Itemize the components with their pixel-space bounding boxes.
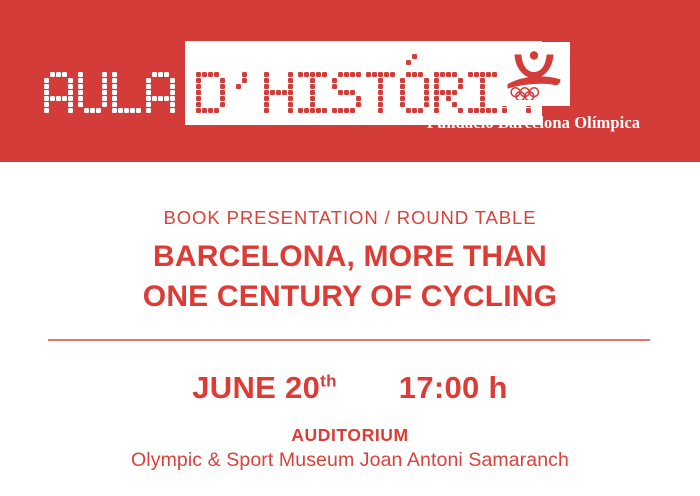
dotmatrix-dot (152, 90, 157, 95)
dotmatrix-glyph (78, 72, 107, 113)
dotmatrix-dot (78, 90, 83, 95)
dotmatrix-dot (282, 108, 287, 113)
dotmatrix-dot (356, 84, 361, 89)
dotmatrix-dot (208, 90, 213, 95)
dotmatrix-dot (254, 102, 259, 107)
dotmatrix-dot (270, 96, 275, 101)
dotmatrix-dot (310, 72, 315, 77)
dotmatrix-dot (316, 102, 321, 107)
dotmatrix-dot (44, 84, 49, 89)
dotmatrix-dot (44, 90, 49, 95)
dotmatrix-dot (214, 78, 219, 83)
dotmatrix-dot (146, 84, 151, 89)
dotmatrix-dot (270, 90, 275, 95)
dotmatrix-dot (304, 78, 309, 83)
dotmatrix-dot (90, 84, 95, 89)
foundation-name: Fundació Barcelona Olímpica (402, 113, 665, 133)
dotmatrix-dot (338, 102, 343, 107)
dotmatrix-dot (304, 72, 309, 77)
dotmatrix-dot (378, 108, 383, 113)
dotmatrix-dot (304, 108, 309, 113)
dotmatrix-dot (372, 108, 377, 113)
dotmatrix-dot (366, 90, 371, 95)
dotmatrix-dot (264, 102, 269, 107)
dotmatrix-dot (344, 78, 349, 83)
dotmatrix-dot (68, 78, 73, 83)
dotmatrix-dot (136, 96, 141, 101)
dotmatrix-dot (136, 90, 141, 95)
dotmatrix-dot (136, 108, 141, 113)
dotmatrix-dot (50, 78, 55, 83)
dotmatrix-dot (220, 78, 225, 83)
dotmatrix-dot (248, 72, 253, 77)
dotmatrix-dot (366, 84, 371, 89)
dotmatrix-dot (208, 78, 213, 83)
dotmatrix-dot (390, 78, 395, 83)
dotmatrix-dot (254, 72, 259, 77)
dotmatrix-dot (310, 84, 315, 89)
dotmatrix-dot (130, 72, 135, 77)
dotmatrix-dot (44, 96, 49, 101)
dotmatrix-dot (146, 96, 151, 101)
dotmatrix-dot (356, 108, 361, 113)
dotmatrix-dot (170, 78, 175, 83)
dotmatrix-dot (50, 96, 55, 101)
dotmatrix-glyph (146, 72, 175, 113)
dotmatrix-dot (164, 102, 169, 107)
dotmatrix-dot (276, 72, 281, 77)
event-title-line-2: ONE CENTURY OF CYCLING (0, 277, 700, 317)
dotmatrix-dot (350, 90, 355, 95)
dotmatrix-dot (146, 102, 151, 107)
dotmatrix-dot (208, 72, 213, 77)
dotmatrix-dot (288, 90, 293, 95)
dotmatrix-dot (390, 108, 395, 113)
dotmatrix-dot (102, 72, 107, 77)
dotmatrix-dot (164, 90, 169, 95)
dotmatrix-dot (124, 78, 129, 83)
dotmatrix-dot (322, 96, 327, 101)
dotmatrix-dot (304, 84, 309, 89)
dotmatrix-dot (68, 72, 73, 77)
dotmatrix-dot (282, 84, 287, 89)
dotmatrix-dot (112, 108, 117, 113)
dotmatrix-glyph (196, 72, 225, 113)
dotmatrix-dot (124, 90, 129, 95)
dotmatrix-dot (264, 108, 269, 113)
dotmatrix-dot (118, 108, 123, 113)
dotmatrix-dot (62, 108, 67, 113)
dotmatrix-dot (254, 78, 259, 83)
dotmatrix-dot (202, 72, 207, 77)
dotmatrix-dot (124, 84, 129, 89)
dotmatrix-dot (112, 90, 117, 95)
dotmatrix-dot (130, 84, 135, 89)
dotmatrix-dot (214, 102, 219, 107)
dotmatrix-dot (196, 96, 201, 101)
dotmatrix-dot (208, 84, 213, 89)
dotmatrix-dot (288, 96, 293, 101)
dotmatrix-dot (118, 84, 123, 89)
dotmatrix-dot (322, 102, 327, 107)
dotmatrix-dot (298, 108, 303, 113)
dotmatrix-dot (118, 102, 123, 107)
dotmatrix-dot (366, 96, 371, 101)
dotmatrix-dot (124, 96, 129, 101)
dotmatrix-dot (316, 108, 321, 113)
dotmatrix-glyph (44, 72, 73, 113)
dotmatrix-dot (68, 84, 73, 89)
dotmatrix-dot (164, 72, 169, 77)
dotmatrix-dot (344, 90, 349, 95)
dotmatrix-dot (242, 102, 247, 107)
dotmatrix-dot (282, 78, 287, 83)
dotmatrix-dot (344, 84, 349, 89)
dotmatrix-dot (338, 108, 343, 113)
dotmatrix-dot (270, 108, 275, 113)
dotmatrix-dot (214, 108, 219, 113)
dotmatrix-dot (378, 78, 383, 83)
dotmatrix-dot (170, 72, 175, 77)
dotmatrix-dot (96, 72, 101, 77)
dotmatrix-dot (102, 108, 107, 113)
dotmatrix-dot (350, 78, 355, 83)
dotmatrix-dot (146, 78, 151, 83)
dotmatrix-dot (248, 90, 253, 95)
dotmatrix-dot (124, 72, 129, 77)
dotmatrix-dot (344, 108, 349, 113)
dotmatrix-dot (254, 90, 259, 95)
dotmatrix-dot (344, 72, 349, 77)
foundation-logo-box (497, 42, 570, 106)
dotmatrix-dot (112, 78, 117, 83)
dotmatrix-dot (338, 78, 343, 83)
dotmatrix-dot (152, 84, 157, 89)
dotmatrix-dot (298, 78, 303, 83)
dotmatrix-dot (146, 72, 151, 77)
dotmatrix-dot (136, 72, 141, 77)
dotmatrix-dot (136, 84, 141, 89)
dotmatrix-dot (96, 102, 101, 107)
dotmatrix-dot (130, 78, 135, 83)
dotmatrix-dot (288, 108, 293, 113)
venue-detail: Olympic & Sport Museum Joan Antoni Samar… (0, 449, 700, 472)
dotmatrix-dot (288, 78, 293, 83)
dotmatrix-dot (276, 78, 281, 83)
dotmatrix-dot (332, 90, 337, 95)
dotmatrix-dot (236, 96, 241, 101)
dotmatrix-dot (242, 72, 247, 77)
dotmatrix-dot (378, 102, 383, 107)
dotmatrix-dot (304, 90, 309, 95)
dotmatrix-dot (372, 102, 377, 107)
foundation-lockup: Fundació Barcelona Olímpica (402, 42, 665, 133)
dotmatrix-dot (344, 96, 349, 101)
dotmatrix-dot (264, 90, 269, 95)
dotmatrix-dot (68, 108, 73, 113)
dotmatrix-dot (220, 102, 225, 107)
dotmatrix-dot (288, 102, 293, 107)
dotmatrix-dot (276, 108, 281, 113)
dotmatrix-dot (236, 72, 241, 77)
dotmatrix-dot (170, 108, 175, 113)
dotmatrix-dot (44, 72, 49, 77)
dotmatrix-dot (90, 78, 95, 83)
dotmatrix-dot (248, 78, 253, 83)
dotmatrix-dot (158, 78, 163, 83)
dotmatrix-dot (338, 84, 343, 89)
dotmatrix-dot (90, 108, 95, 113)
venue-name: AUDITORIUM (0, 425, 700, 446)
dotmatrix-dot (50, 72, 55, 77)
dotmatrix-dot (84, 84, 89, 89)
event-when: JUNE 20th17:00 h (0, 370, 700, 406)
dotmatrix-dot (102, 90, 107, 95)
dotmatrix-dot (112, 96, 117, 101)
dotmatrix-dot (332, 78, 337, 83)
dotmatrix-dot (264, 72, 269, 77)
dotmatrix-dot (242, 78, 247, 83)
dotmatrix-dot (68, 102, 73, 107)
dotmatrix-dot (384, 96, 389, 101)
dotmatrix-dot (124, 102, 129, 107)
dotmatrix-dot (366, 102, 371, 107)
dotmatrix-dot (236, 90, 241, 95)
dotmatrix-dot (202, 108, 207, 113)
dotmatrix-dot (130, 108, 135, 113)
dotmatrix-dot (350, 108, 355, 113)
dotmatrix-dot (78, 102, 83, 107)
dotmatrix-dot (102, 84, 107, 89)
dotmatrix-dot (130, 90, 135, 95)
dotmatrix-glyph (298, 72, 327, 113)
dotmatrix-dot (164, 96, 169, 101)
dotmatrix-dot (214, 90, 219, 95)
dotmatrix-dot (78, 108, 83, 113)
dotmatrix-dot (220, 90, 225, 95)
dotmatrix-dot (50, 90, 55, 95)
dotmatrix-dot (78, 72, 83, 77)
dotmatrix-dot (202, 102, 207, 107)
dotmatrix-dot (316, 84, 321, 89)
dotmatrix-dot (378, 84, 383, 89)
dotmatrix-dot (78, 96, 83, 101)
dotmatrix-dot (264, 78, 269, 83)
dotmatrix-dot (384, 72, 389, 77)
dotmatrix-dot (350, 96, 355, 101)
dotmatrix-dot (78, 78, 83, 83)
poster-body: BOOK PRESENTATION / ROUND TABLE BARCELON… (0, 162, 700, 496)
dotmatrix-dot (158, 108, 163, 113)
header-band: Fundació Barcelona Olímpica (0, 0, 700, 162)
dotmatrix-dot (62, 78, 67, 83)
dotmatrix-dot (214, 84, 219, 89)
dotmatrix-dot (196, 102, 201, 107)
dotmatrix-dot (322, 72, 327, 77)
dotmatrix-dot (208, 96, 213, 101)
dotmatrix-dot (390, 90, 395, 95)
dotmatrix-dot (68, 96, 73, 101)
dotmatrix-dot (310, 102, 315, 107)
dotmatrix-dot (196, 90, 201, 95)
dotmatrix-dot (384, 108, 389, 113)
dotmatrix-dot (230, 72, 235, 77)
dotmatrix-dot (276, 96, 281, 101)
dotmatrix-dot (304, 96, 309, 101)
dotmatrix-dot (102, 78, 107, 83)
dotmatrix-dot (322, 78, 327, 83)
dotmatrix-dot (158, 72, 163, 77)
dotmatrix-dot (254, 84, 259, 89)
dotmatrix-dot (90, 102, 95, 107)
dotmatrix-dot (118, 90, 123, 95)
dotmatrix-dot (282, 90, 287, 95)
dotmatrix-dot (276, 84, 281, 89)
dotmatrix-dot (372, 84, 377, 89)
dotmatrix-dot (44, 102, 49, 107)
dotmatrix-dot (102, 96, 107, 101)
dotmatrix-dot (136, 78, 141, 83)
dotmatrix-dot (298, 102, 303, 107)
dotmatrix-dot (378, 90, 383, 95)
dotmatrix-dot (356, 78, 361, 83)
dotmatrix-dot (152, 96, 157, 101)
dotmatrix-dot (56, 96, 61, 101)
dotmatrix-dot (390, 84, 395, 89)
dotmatrix-glyph (332, 72, 361, 113)
dotmatrix-dot (90, 72, 95, 77)
event-date-ordinal: th (320, 372, 337, 391)
dotmatrix-dot (378, 72, 383, 77)
dotmatrix-dot (356, 72, 361, 77)
dotmatrix-dot (276, 90, 281, 95)
dotmatrix-dot (316, 72, 321, 77)
dotmatrix-dot (170, 102, 175, 107)
dotmatrix-dot (130, 96, 135, 101)
dotmatrix-dot (288, 84, 293, 89)
dotmatrix-dot (152, 102, 157, 107)
dotmatrix-dot (384, 78, 389, 83)
event-kicker: BOOK PRESENTATION / ROUND TABLE (0, 207, 700, 229)
dotmatrix-dot (136, 102, 141, 107)
event-title: BARCELONA, MORE THAN ONE CENTURY OF CYCL… (0, 237, 700, 316)
dotmatrix-dot (350, 72, 355, 77)
dotmatrix-dot (146, 108, 151, 113)
dotmatrix-dot (248, 108, 253, 113)
dotmatrix-dot (118, 96, 123, 101)
dotmatrix-dot (158, 96, 163, 101)
dotmatrix-dot (102, 102, 107, 107)
dotmatrix-dot (288, 72, 293, 77)
event-title-line-1: BARCELONA, MORE THAN (0, 237, 700, 277)
dotmatrix-dot (96, 96, 101, 101)
dotmatrix-dot (332, 84, 337, 89)
dotmatrix-dot (96, 78, 101, 83)
dotmatrix-dot (270, 102, 275, 107)
dotmatrix-dot (322, 90, 327, 95)
dotmatrix-dot (56, 90, 61, 95)
dotmatrix-dot (322, 84, 327, 89)
dotmatrix-dot (350, 84, 355, 89)
dotmatrix-dot (202, 90, 207, 95)
dotmatrix-dot (50, 102, 55, 107)
dotmatrix-dot (248, 84, 253, 89)
dotmatrix-dot (68, 90, 73, 95)
dotmatrix-dot (152, 72, 157, 77)
dotmatrix-dot (56, 78, 61, 83)
dotmatrix-dot (356, 90, 361, 95)
dotmatrix-dot (248, 102, 253, 107)
dotmatrix-dot (310, 108, 315, 113)
dotmatrix-dot (220, 72, 225, 77)
dotmatrix-dot (350, 102, 355, 107)
dotmatrix-dot (242, 90, 247, 95)
dotmatrix-dot (230, 78, 235, 83)
dotmatrix-dot (316, 96, 321, 101)
dotmatrix-dot (62, 84, 67, 89)
section-divider (48, 339, 650, 341)
dotmatrix-dot (310, 90, 315, 95)
event-time: 17:00 h (399, 370, 508, 406)
dotmatrix-dot (270, 78, 275, 83)
dotmatrix-dot (214, 72, 219, 77)
dotmatrix-dot (62, 72, 67, 77)
dotmatrix-dot (214, 96, 219, 101)
event-date-text: JUNE 20 (192, 370, 320, 405)
dotmatrix-dot (248, 96, 253, 101)
dotmatrix-glyph (366, 72, 395, 113)
dotmatrix-dot (164, 78, 169, 83)
dotmatrix-dot (276, 102, 281, 107)
dotmatrix-dot (230, 108, 235, 113)
dotmatrix-dot (118, 78, 123, 83)
dotmatrix-dot (90, 96, 95, 101)
barcelona-olympic-foundation-logo-icon (505, 48, 563, 100)
dotmatrix-dot (50, 108, 55, 113)
dotmatrix-dot (170, 96, 175, 101)
dotmatrix-dot (50, 84, 55, 89)
dotmatrix-dot (78, 84, 83, 89)
dotmatrix-dot (230, 84, 235, 89)
dotmatrix-dot (164, 108, 169, 113)
dotmatrix-dot (220, 84, 225, 89)
dotmatrix-dot (196, 108, 201, 113)
dotmatrix-dot (196, 78, 201, 83)
dotmatrix-dot (84, 108, 89, 113)
dotmatrix-dot (264, 96, 269, 101)
dotmatrix-dot (202, 96, 207, 101)
dotmatrix-dot (164, 84, 169, 89)
dotmatrix-dot (208, 108, 213, 113)
dotmatrix-dot (196, 72, 201, 77)
dotmatrix-dot (152, 78, 157, 83)
dotmatrix-dot (220, 96, 225, 101)
dotmatrix-dot (310, 96, 315, 101)
dotmatrix-dot (366, 78, 371, 83)
dotmatrix-dot (44, 108, 49, 113)
dotmatrix-dot (84, 102, 89, 107)
dotmatrix-dot (282, 102, 287, 107)
dotmatrix-dot (202, 78, 207, 83)
dotmatrix-dot (208, 102, 213, 107)
wordmark-aula (44, 41, 175, 113)
dotmatrix-dot (220, 108, 225, 113)
dotmatrix-dot (202, 84, 207, 89)
dotmatrix-dot (372, 90, 377, 95)
dotmatrix-dot (56, 102, 61, 107)
dotmatrix-dot (62, 102, 67, 107)
dotmatrix-dot (390, 96, 395, 101)
